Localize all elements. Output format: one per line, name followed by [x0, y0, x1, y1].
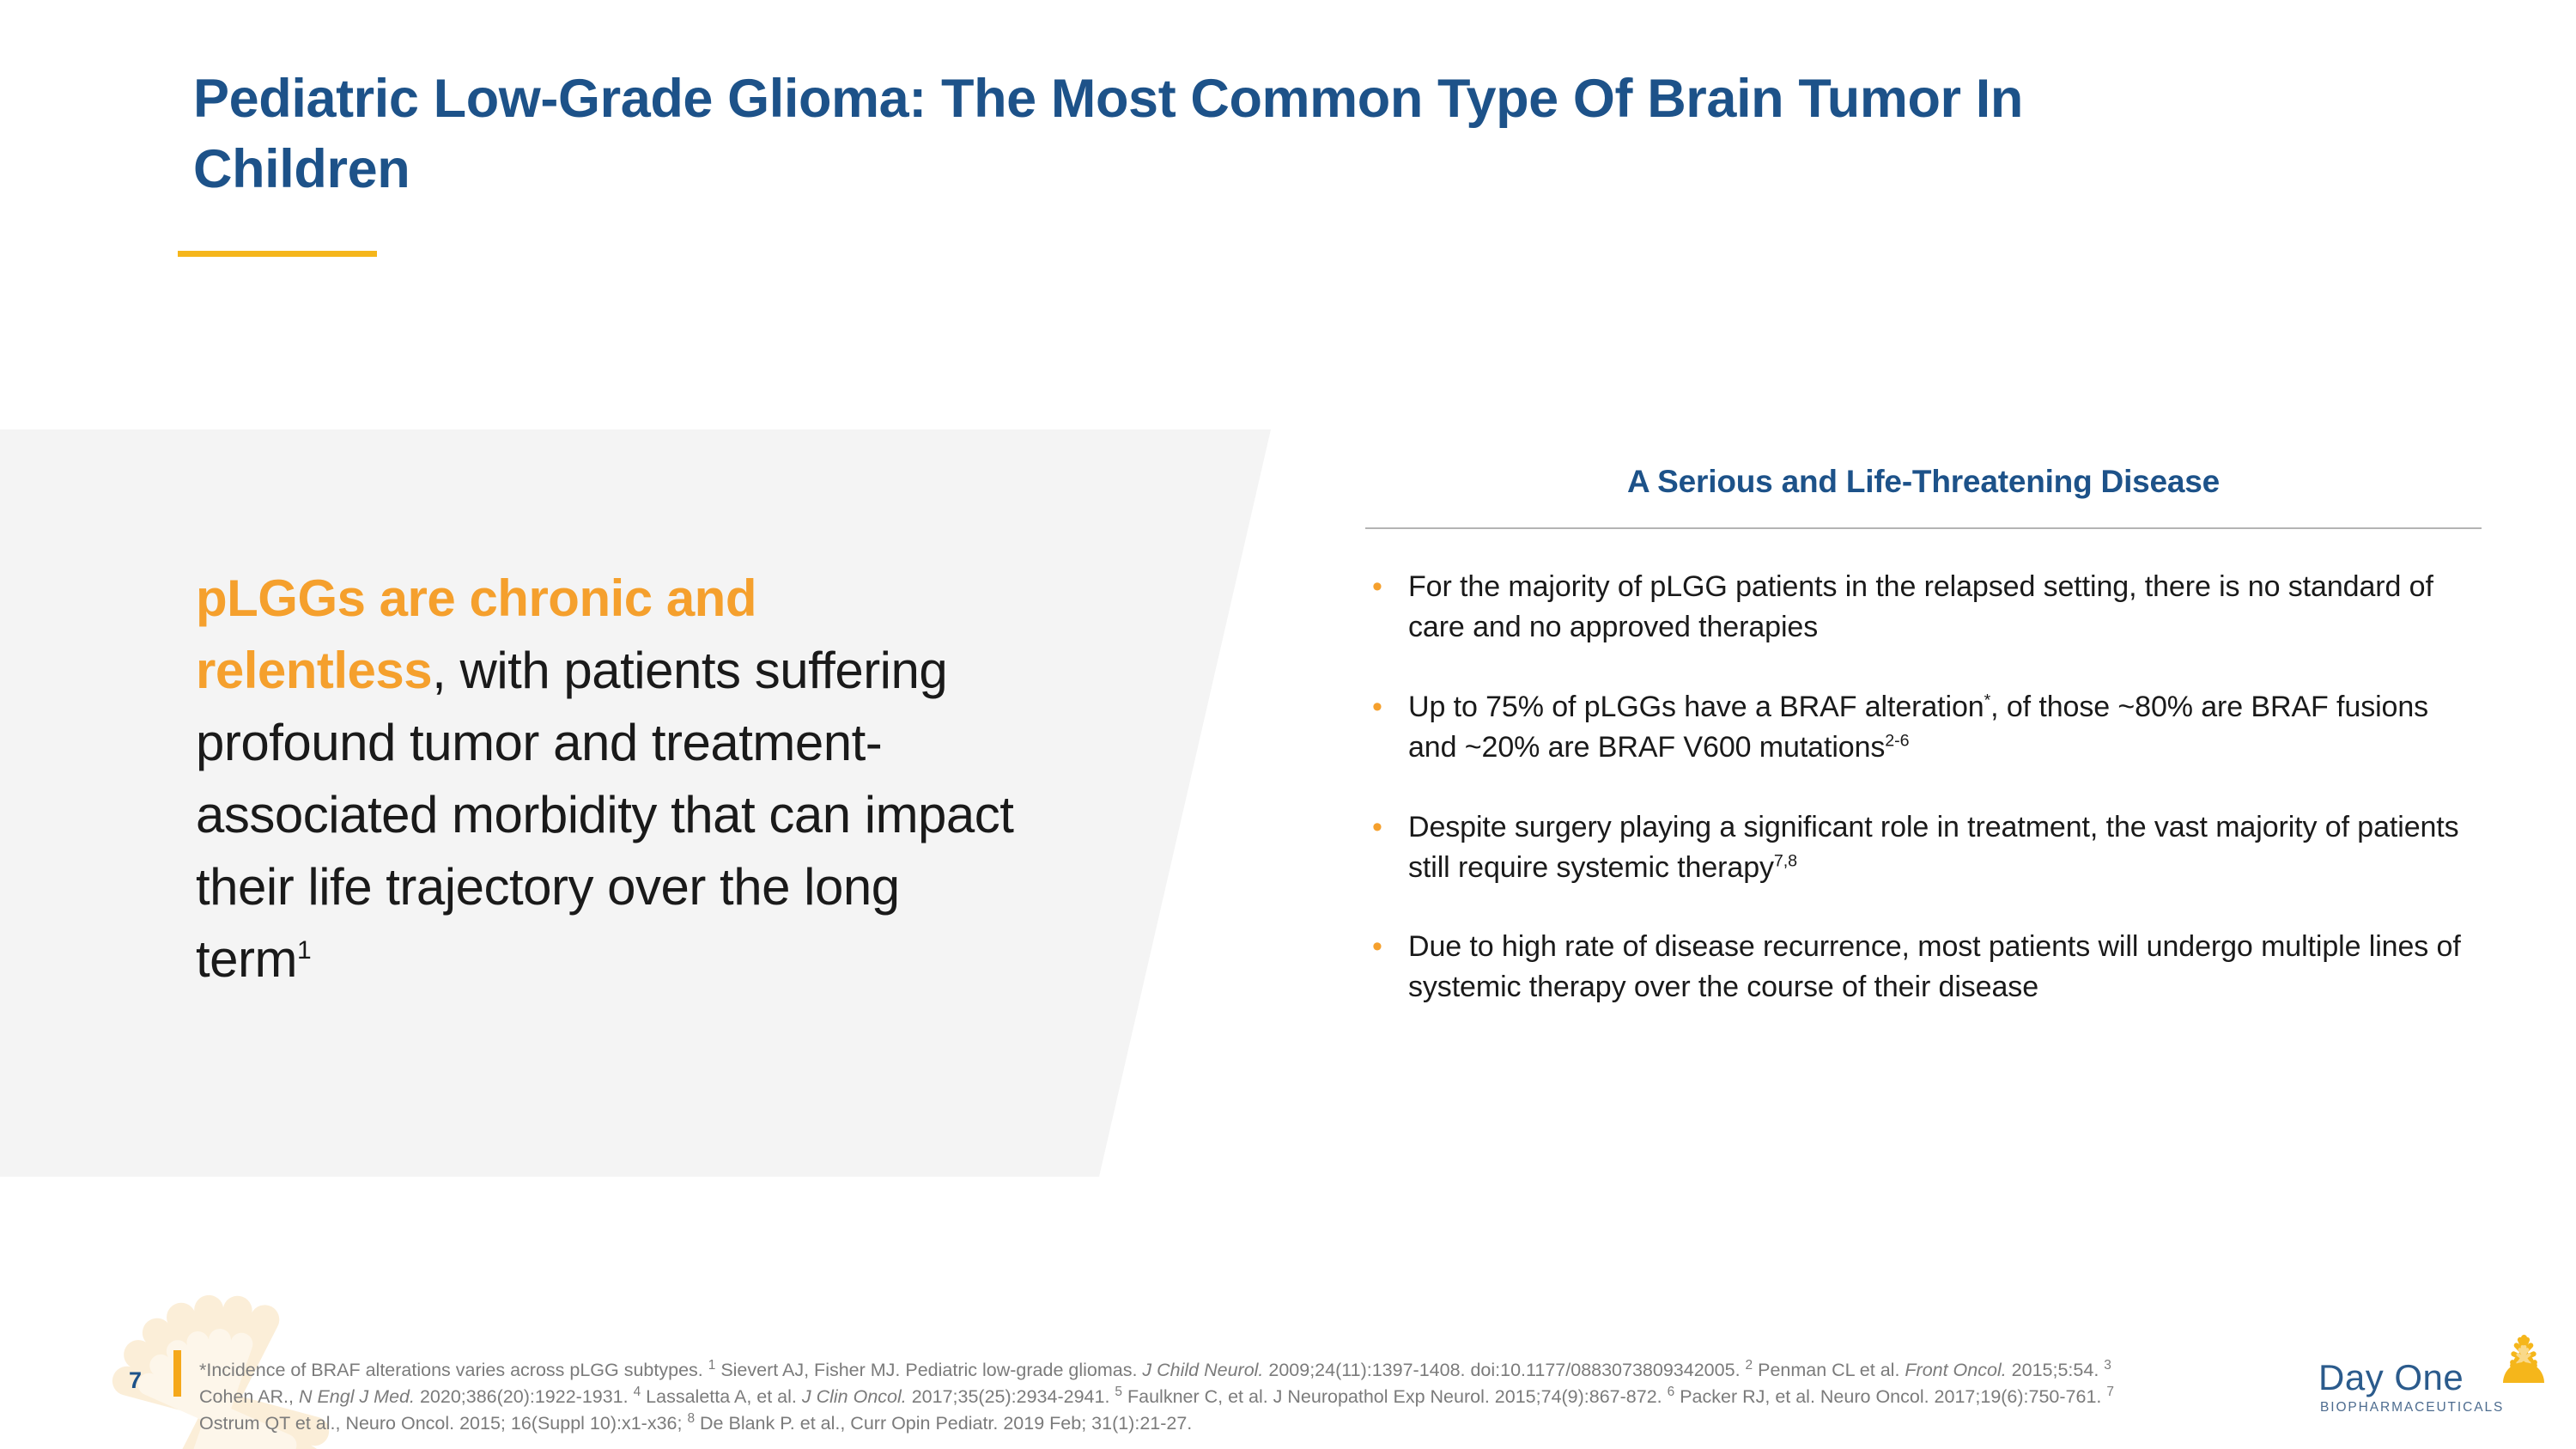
footnote-sup-2: 2: [1746, 1358, 1753, 1373]
list-item: • For the majority of pLGG patients in t…: [1365, 567, 2482, 648]
list-item: • Despite surgery playing a significant …: [1365, 807, 2482, 888]
footnote-sup-4: 4: [634, 1385, 641, 1399]
footnote-text: 2017;35(25):2934-2941.: [907, 1386, 1115, 1407]
footnote-journal: Front Oncol.: [1905, 1360, 2006, 1380]
footnote-text: Lassaletta A, et al.: [641, 1386, 802, 1407]
footnote-journal: N Engl J Med.: [299, 1386, 415, 1407]
footnote-text: De Blank P. et al., Curr Opin Pediatr. 2…: [695, 1413, 1192, 1434]
slide-canvas: Pediatric Low-Grade Glioma: The Most Com…: [0, 0, 2576, 1449]
bullet-text: Despite surgery playing a significant ro…: [1408, 807, 2482, 888]
footnote-text: *Incidence of BRAF alterations varies ac…: [199, 1360, 708, 1380]
bullet-dot-icon: •: [1365, 927, 1408, 1008]
footnote-text: 2009;24(11):1397-1408. doi:10.1177/08830…: [1263, 1360, 1735, 1380]
logo-subtitle: BIOPHARMACEUTICALS: [2320, 1400, 2504, 1416]
bullet-dot-icon: •: [1365, 807, 1408, 888]
bullet-text: For the majority of pLGG patients in the…: [1408, 567, 2482, 648]
logo-wordmark: Day One: [2318, 1357, 2464, 1398]
right-panel-heading: A Serious and Life-Threatening Disease: [1365, 464, 2482, 500]
title-block: Pediatric Low-Grade Glioma: The Most Com…: [193, 64, 2168, 205]
bullet-body: Despite surgery playing a significant ro…: [1408, 811, 2459, 884]
bullet-body: Due to high rate of disease recurrence, …: [1408, 930, 2461, 1003]
footnote-text: 2020;386(20):1922-1931.: [415, 1386, 634, 1407]
footnote-journal: J Clin Oncol.: [802, 1386, 907, 1407]
footnote-text: Ostrum QT et al., Neuro Oncol. 2015; 16(…: [199, 1413, 687, 1434]
footnote-sup-5: 5: [1115, 1385, 1122, 1399]
bullet-body: For the majority of pLGG patients in the…: [1408, 570, 2433, 643]
right-column: A Serious and Life-Threatening Disease •…: [1365, 464, 2482, 1008]
bullet-ref-superscript: 2-6: [1885, 731, 1909, 750]
footnote-text: 2015;5:54.: [2007, 1360, 2105, 1380]
left-statement-text: pLGGs are chronic and relentless, with p…: [196, 563, 1020, 995]
list-item: • Up to 75% of pLGGs have a BRAF alterat…: [1365, 687, 2482, 768]
title-underline-accent: [178, 251, 377, 257]
bullet-ref-superscript: 7,8: [1774, 851, 1797, 870]
footnote-text: Sievert AJ, Fisher MJ. Pediatric low-gra…: [715, 1360, 1142, 1380]
footer-divider-bar: [173, 1350, 181, 1397]
footnote-sup-6: 6: [1668, 1385, 1675, 1399]
footnote-text: Packer RJ, et al. Neuro: [1674, 1386, 1870, 1407]
footnote-text: Cohen AR.,: [199, 1386, 299, 1407]
footnote-text: Faulkner C, et al. J Neuropathol Exp Neu…: [1122, 1386, 1668, 1407]
footnotes-block: *Incidence of BRAF alterations varies ac…: [199, 1357, 2131, 1437]
footnote-sup-8: 8: [687, 1411, 695, 1426]
bullet-body: Up to 75% of pLGGs have a BRAF alteratio…: [1408, 691, 1984, 723]
bullet-text: Due to high rate of disease recurrence, …: [1408, 927, 2482, 1008]
footnote-journal: J Child Neurol.: [1142, 1360, 1263, 1380]
list-item: • Due to high rate of disease recurrence…: [1365, 927, 2482, 1008]
footnote-sup-7: 7: [2106, 1385, 2114, 1399]
sunburst-logo-icon: [2478, 1331, 2573, 1409]
company-logo: Day One BIOPHARMACEUTICALS: [2310, 1336, 2559, 1431]
bullet-dot-icon: •: [1365, 567, 1408, 648]
footnote-sup-3: 3: [2104, 1358, 2111, 1373]
statement-superscript: 1: [297, 936, 311, 965]
footnote-text: .: [1735, 1360, 1746, 1380]
bullet-list: • For the majority of pLGG patients in t…: [1365, 567, 2482, 1008]
page-title: Pediatric Low-Grade Glioma: The Most Com…: [193, 64, 2168, 205]
bullet-dot-icon: •: [1365, 687, 1408, 768]
footnote-text: Penman CL et al.: [1753, 1360, 1905, 1380]
heading-divider-rule: [1365, 527, 2482, 529]
bullet-text: Up to 75% of pLGGs have a BRAF alteratio…: [1408, 687, 2482, 768]
page-number: 7: [129, 1367, 142, 1394]
footnote-text: Oncol. 2017;19(6):750-761.: [1870, 1386, 2106, 1407]
